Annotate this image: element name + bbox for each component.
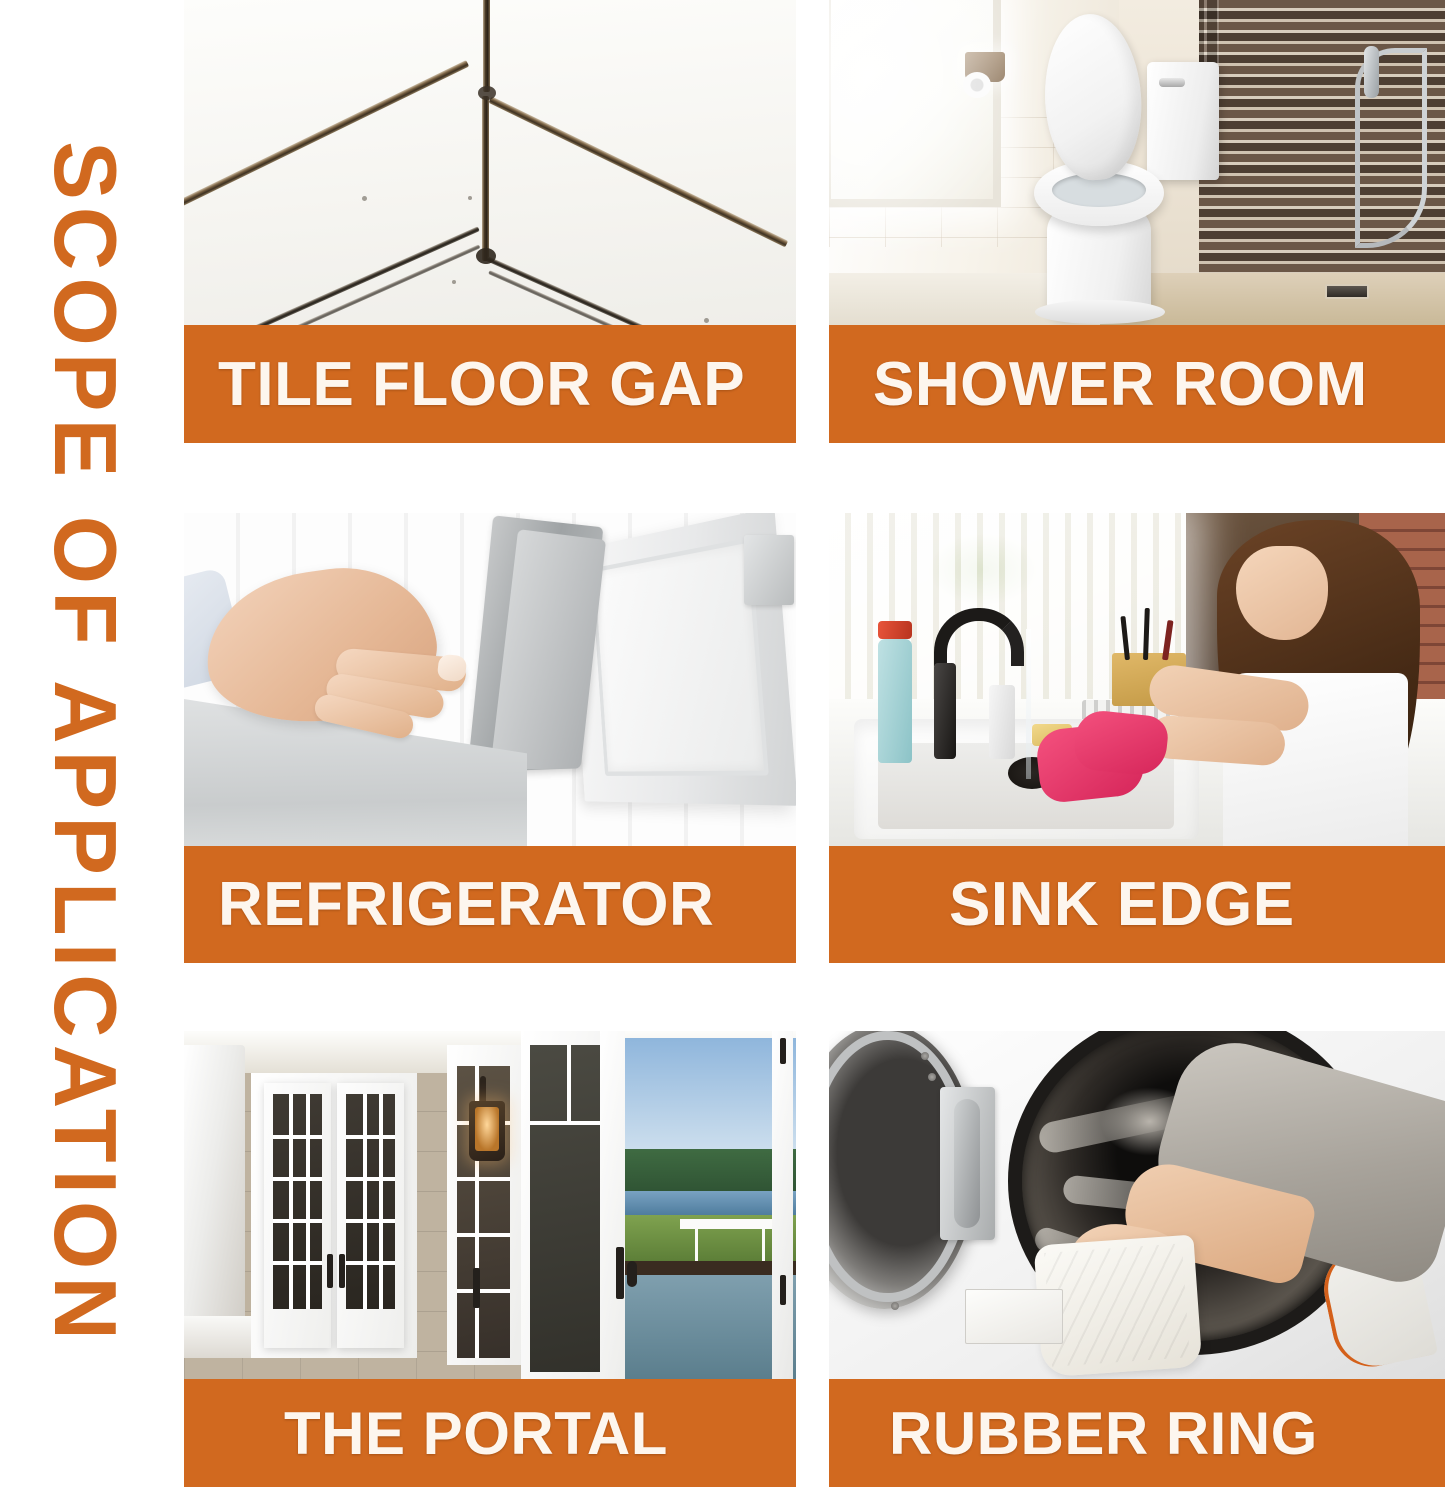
label-text: RUBBER RING	[889, 1399, 1318, 1468]
label-banner-tile-floor-gap: TILE FLOOR GAP	[184, 325, 796, 443]
side-title-text: SCOPE OF APPLICATION	[41, 141, 129, 1347]
label-text: SINK EDGE	[949, 869, 1295, 940]
label-banner-sink-edge: SINK EDGE	[829, 846, 1445, 963]
scope-of-application-poster: SCOPE OF APPLICATION	[0, 0, 1445, 1487]
photo-refrigerator	[184, 513, 796, 846]
application-grid: TILE FLOOR GAP	[184, 0, 1445, 1487]
label-text: TILE FLOOR GAP	[218, 349, 745, 420]
card-sink-edge[interactable]: SINK EDGE	[829, 513, 1445, 963]
card-rubber-ring[interactable]: RUBBER RING	[829, 1031, 1445, 1487]
photo-shower-room	[829, 0, 1445, 325]
label-banner-shower-room: SHOWER ROOM	[829, 325, 1445, 443]
card-the-portal[interactable]: THE PORTAL	[184, 1031, 796, 1487]
photo-rubber-ring	[829, 1031, 1445, 1379]
label-banner-refrigerator: REFRIGERATOR	[184, 846, 796, 963]
photo-tile-floor-gap	[184, 0, 796, 325]
label-banner-the-portal: THE PORTAL	[184, 1379, 796, 1487]
label-text: REFRIGERATOR	[218, 869, 714, 940]
label-banner-rubber-ring: RUBBER RING	[829, 1379, 1445, 1487]
card-tile-floor-gap[interactable]: TILE FLOOR GAP	[184, 0, 796, 443]
warning-label	[965, 1289, 1064, 1345]
floor-drain-icon	[1325, 284, 1369, 299]
label-text: SHOWER ROOM	[873, 349, 1368, 420]
label-text: THE PORTAL	[284, 1399, 668, 1468]
photo-the-portal	[184, 1031, 796, 1379]
photo-sink-edge	[829, 513, 1445, 846]
card-shower-room[interactable]: SHOWER ROOM	[829, 0, 1445, 443]
side-title: SCOPE OF APPLICATION	[0, 0, 170, 1487]
card-refrigerator[interactable]: REFRIGERATOR	[184, 513, 796, 963]
hand-graphic	[186, 561, 486, 761]
lantern-icon	[469, 1101, 505, 1161]
